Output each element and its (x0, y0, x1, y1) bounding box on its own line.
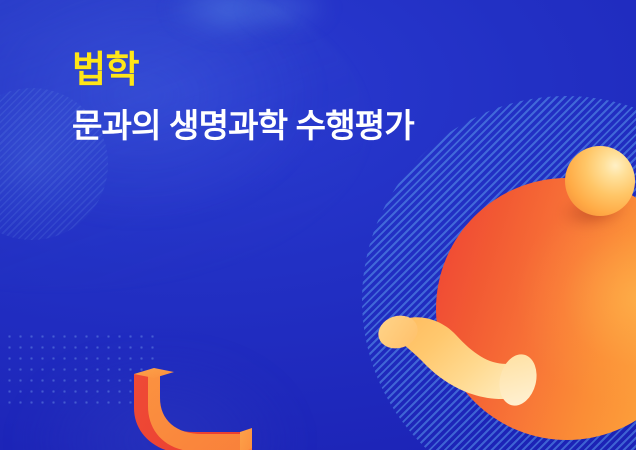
small-orange-sphere (565, 146, 635, 216)
page-title: 법학 (72, 48, 542, 92)
headline-block: 법학 문과의 생명과학 수행평가 (72, 48, 542, 145)
orange-hook-shape (128, 368, 252, 450)
page-subtitle: 문과의 생명과학 수행평가 (72, 106, 542, 146)
curved-orange-tube (372, 305, 540, 413)
presentation-slide: 법학 문과의 생명과학 수행평가 (0, 0, 636, 450)
